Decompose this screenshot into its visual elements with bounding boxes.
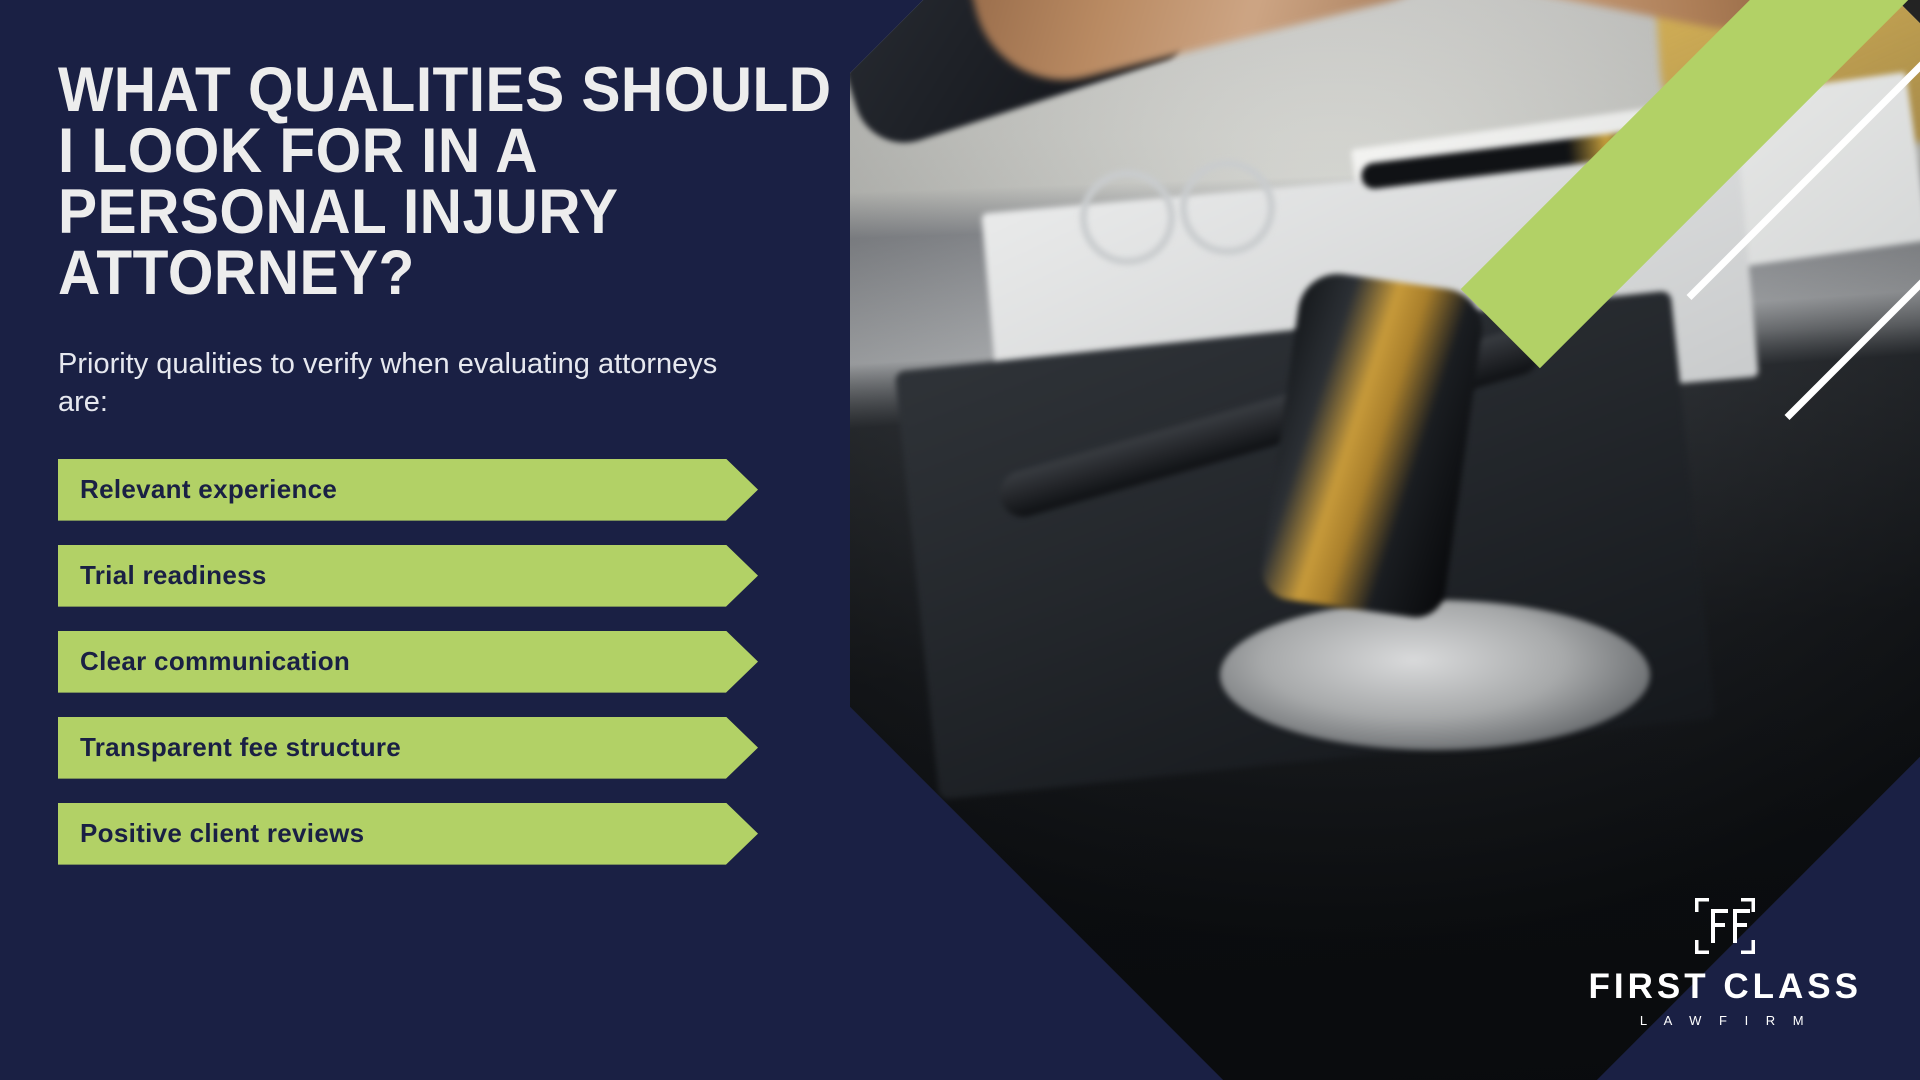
gavel-sound-block-blob [1220,600,1650,750]
list-item: Trial readiness [58,545,758,607]
list-item-label: Positive client reviews [58,818,364,849]
subtitle-text: Priority qualities to verify when evalua… [58,346,718,420]
list-item: Transparent fee structure [58,717,758,779]
list-item-label: Trial readiness [58,560,267,591]
list-item: Relevant experience [58,459,758,521]
list-item: Clear communication [58,631,758,693]
monogram-fc-icon [1694,897,1756,955]
list-item-label: Relevant experience [58,474,337,505]
list-item-label: Transparent fee structure [58,732,401,763]
brand-logo: FIRST CLASS L A W F I R M [1589,897,1862,1028]
page-title: WHAT QUALITIES SHOULD I LOOK FOR IN A PE… [58,60,841,304]
content-panel: WHAT QUALITIES SHOULD I LOOK FOR IN A PE… [0,0,900,1080]
list-item-label: Clear communication [58,646,350,677]
logo-tagline: L A W F I R M [1589,1013,1862,1028]
logo-name: FIRST CLASS [1589,969,1862,1004]
photo-inner [850,0,1920,1010]
qualities-list: Relevant experience Trial readiness Clea… [58,459,900,865]
list-item: Positive client reviews [58,803,758,865]
